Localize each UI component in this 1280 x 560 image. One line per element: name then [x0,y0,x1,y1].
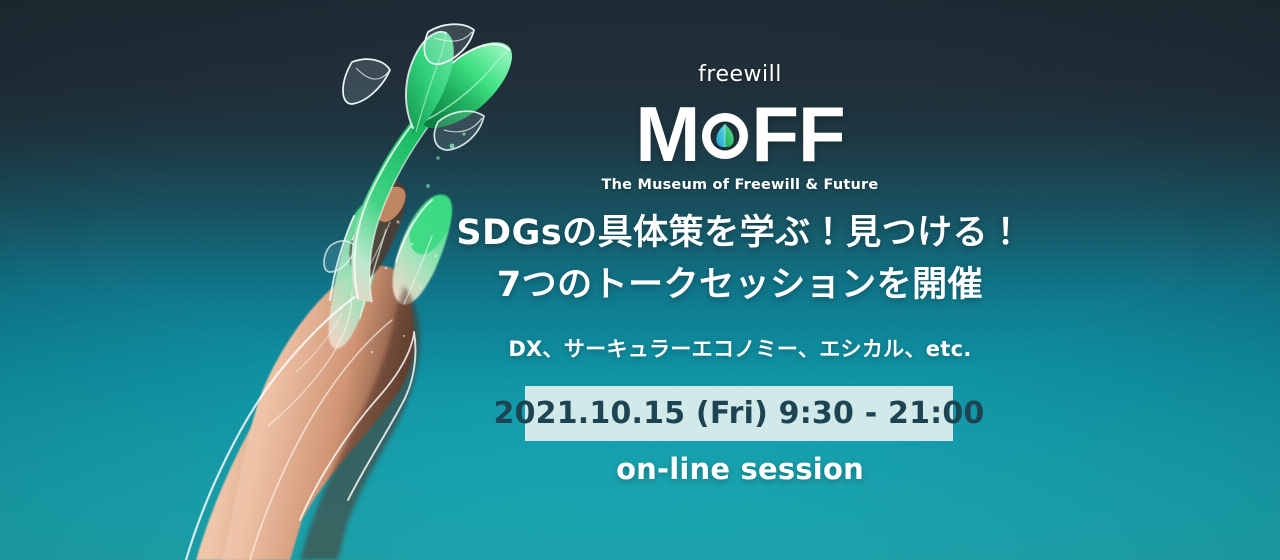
moff-letter-m: M [635,95,699,173]
moff-logo: M [440,95,1040,193]
banner-content: freewill M [440,0,1040,560]
subheadline: DX、サーキュラーエコノミー、エシカル、etc. [440,333,1040,363]
freewill-wordmark: freewill [440,62,1040,87]
moff-tagline: The Museum of Freewill & Future [440,177,1040,193]
headline-line-1: SDGsの具体策を学ぶ！見つける！ [440,208,1040,260]
event-banner: freewill M [0,0,1280,560]
date-badge: 2021.10.15 (Fri) 9:30 - 21:00 [525,386,953,441]
date-badge-text: 2021.10.15 (Fri) 9:30 - 21:00 [494,396,985,431]
session-format-label: on-line session [440,452,1040,486]
headline: SDGsの具体策を学ぶ！見つける！ 7つのトークセッションを開催 [440,208,1040,312]
headline-line-2: 7つのトークセッションを開催 [440,260,1040,312]
leaf-in-circle-icon [702,113,748,159]
moff-wordmark: M [635,95,844,173]
moff-letters-ff: FF [751,95,844,173]
